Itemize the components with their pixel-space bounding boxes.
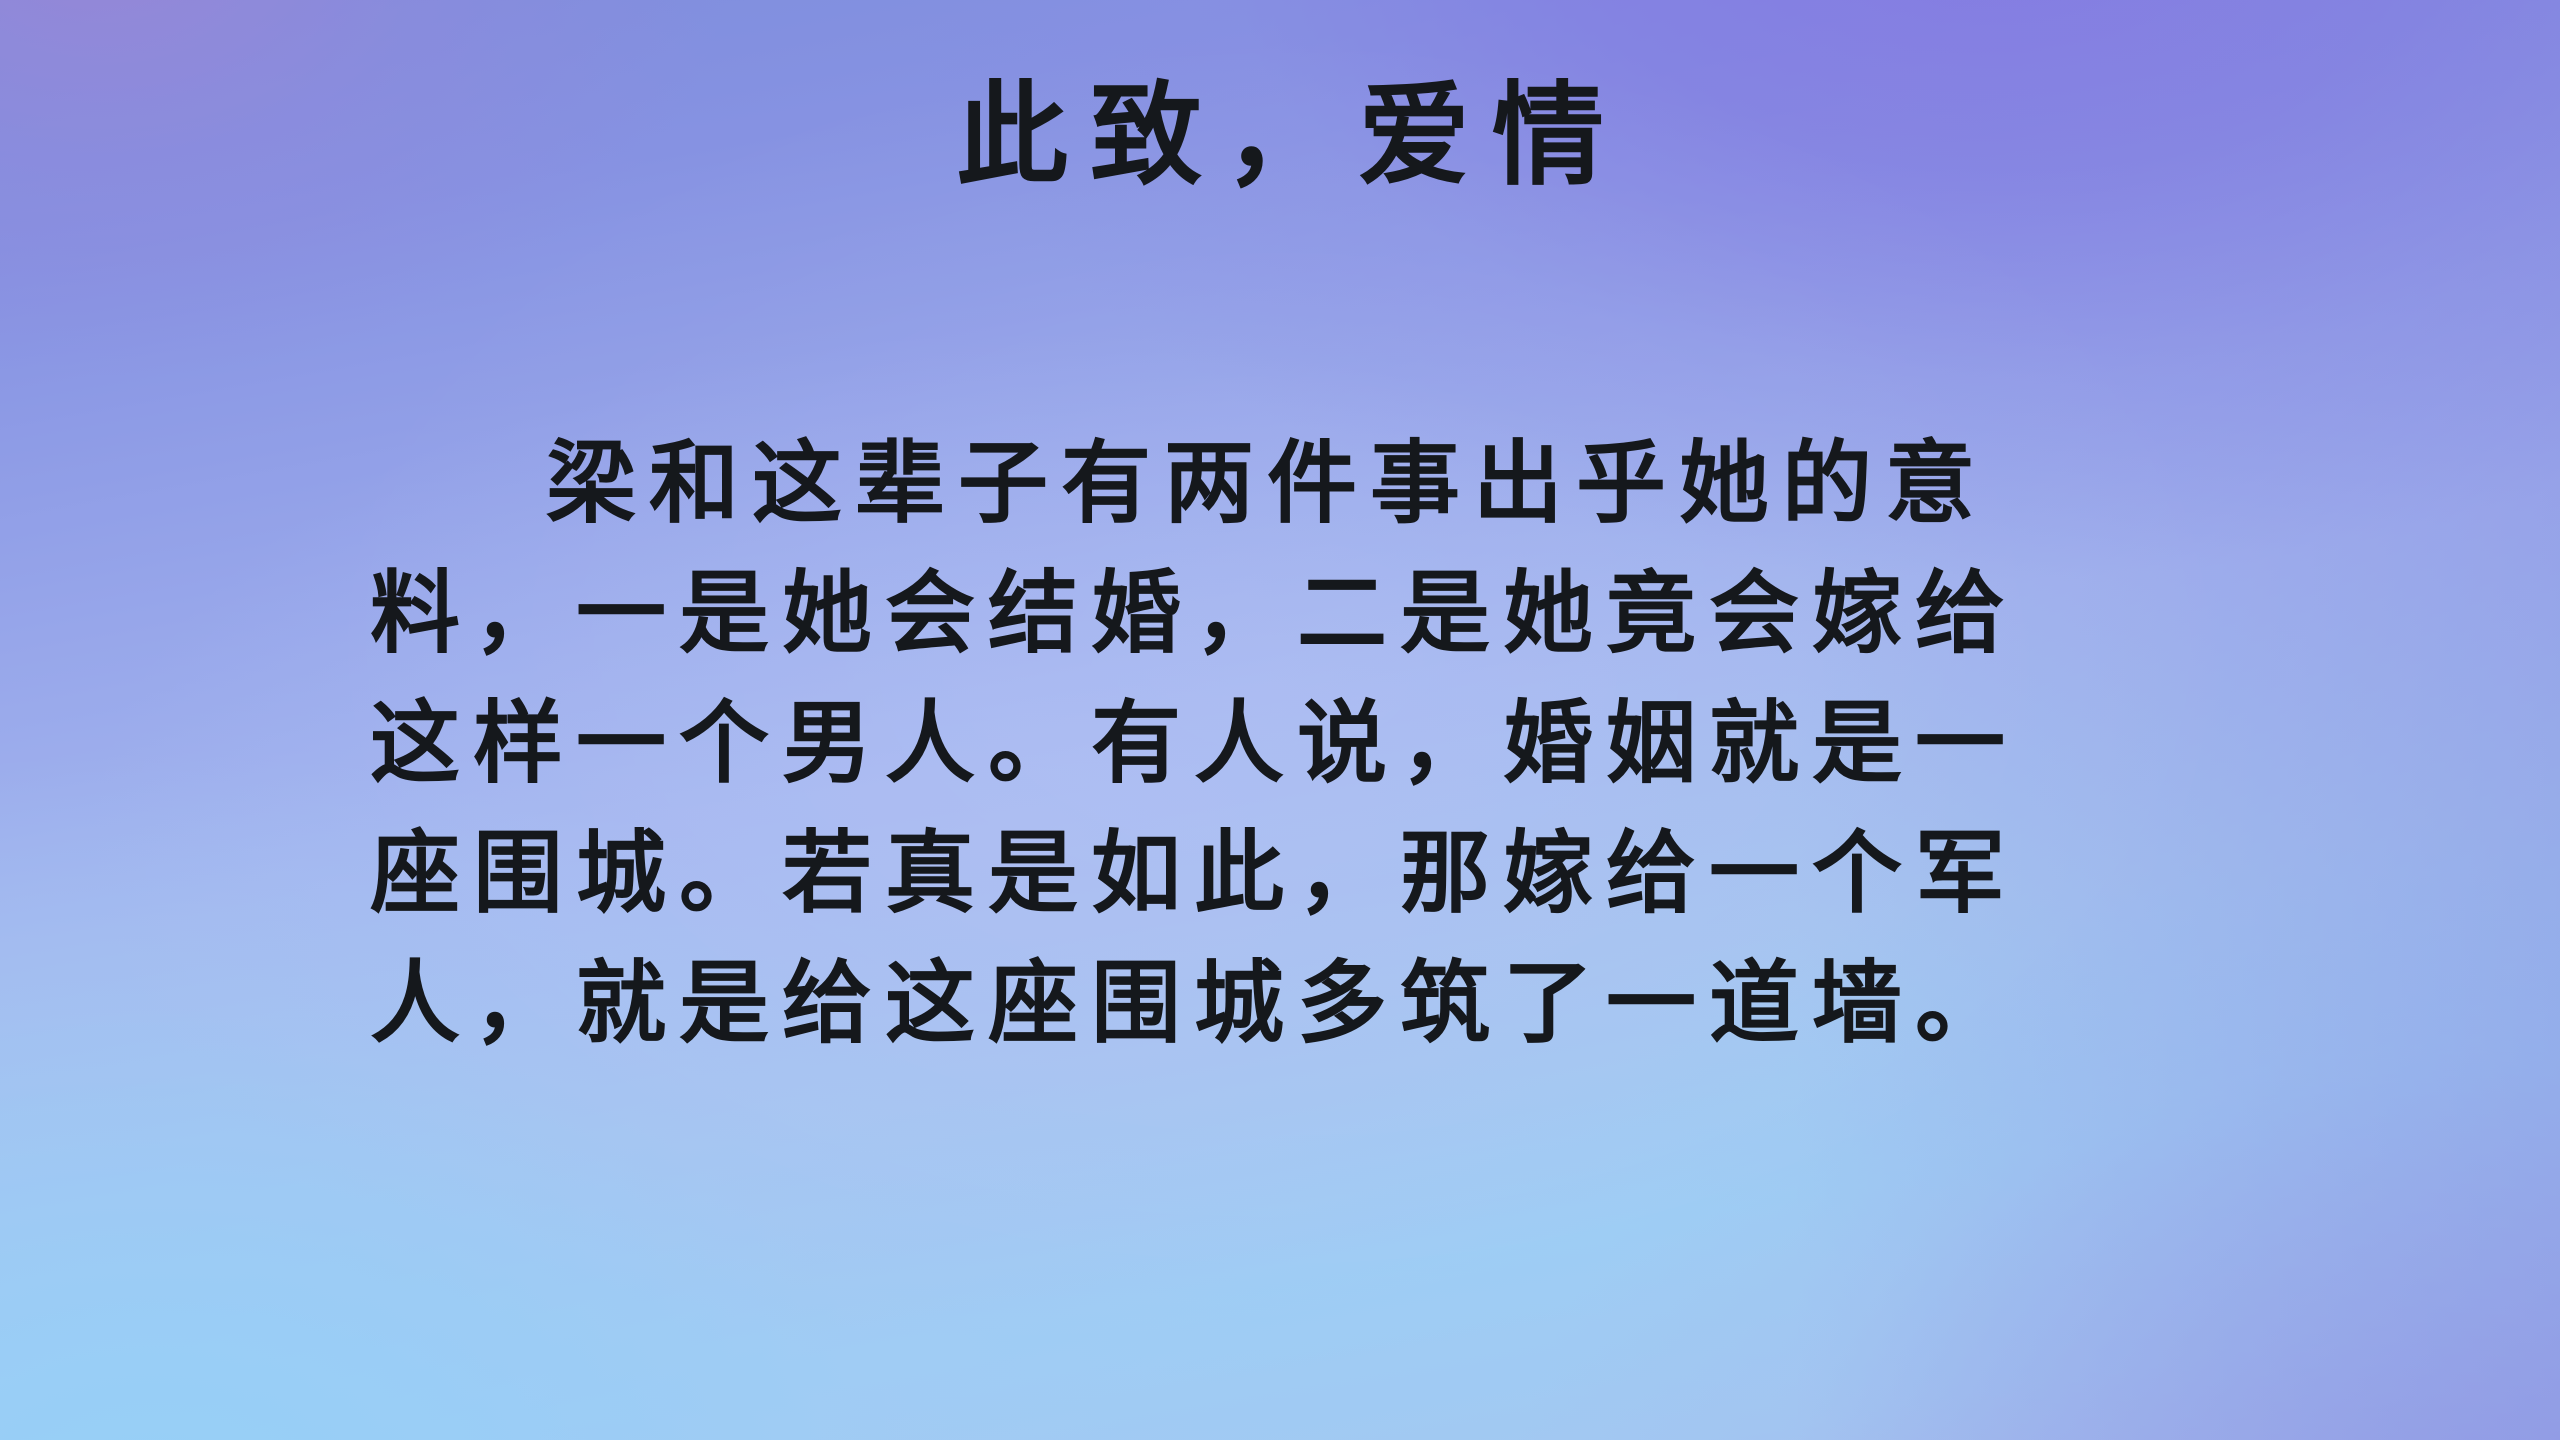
body-line-1: 梁和这辈子有两件事出乎她的意: [370, 418, 2360, 548]
slide-canvas: 此致，爱情 梁和这辈子有两件事出乎她的意 料，一是她会结婚，二是她竟会嫁给 这样…: [0, 0, 2560, 1440]
slide-content: 此致，爱情 梁和这辈子有两件事出乎她的意 料，一是她会结婚，二是她竟会嫁给 这样…: [0, 0, 2560, 1440]
body-line-3: 这样一个男人。有人说，婚姻就是一: [370, 678, 2360, 808]
body-paragraph: 梁和这辈子有两件事出乎她的意 料，一是她会结婚，二是她竟会嫁给 这样一个男人。有…: [370, 418, 2360, 1068]
body-line-5: 人，就是给这座围城多筑了一道墙。: [370, 938, 2360, 1068]
slide-title: 此致，爱情: [0, 80, 2560, 192]
body-line-4: 座围城。若真是如此，那嫁给一个军: [370, 808, 2360, 938]
body-line-2: 料，一是她会结婚，二是她竟会嫁给: [370, 548, 2360, 678]
